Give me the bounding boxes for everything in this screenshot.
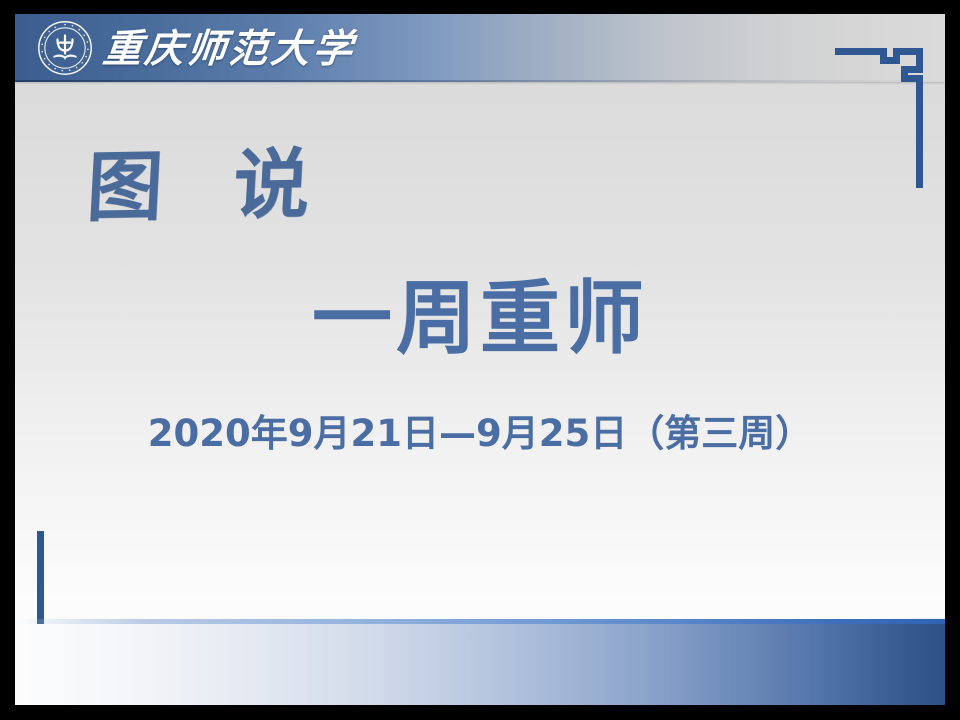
brush-calligraphy-title: 图 说 [85,146,334,226]
slide-matte: 重庆师范大学 [0,0,960,720]
university-seal-icon [37,20,93,76]
presentation-slide: 重庆师范大学 [15,14,945,705]
header-banner: 重庆师范大学 [15,14,945,82]
corner-ornament-top-right-icon [835,32,927,192]
page-title: 一周重师 [15,276,945,362]
footer-decorative-band [15,619,945,705]
date-range-subtitle: 2020年9月21日—9月25日（第三周） [15,414,945,455]
university-name: 重庆师范大学 [100,22,358,76]
footer-gradient-fill [15,624,945,705]
